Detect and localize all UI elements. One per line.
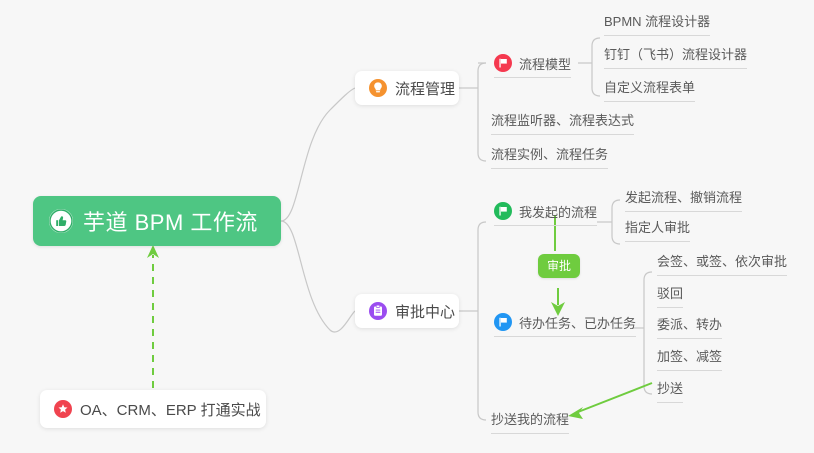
node-oa-crm-erp-label: OA、CRM、ERP 打通实战 (80, 399, 261, 420)
leaf-reject[interactable]: 驳回 (657, 284, 683, 308)
branch-label-process-mgmt: 流程管理 (395, 78, 455, 99)
leaf-bpmn-designer[interactable]: BPMN 流程设计器 (604, 12, 710, 36)
branch-label-approval-center: 审批中心 (395, 301, 455, 322)
flag-icon (494, 54, 512, 72)
leaf-process-listener[interactable]: 流程监听器、流程表达式 (491, 111, 634, 135)
node-process-model-label: 流程模型 (519, 54, 571, 73)
root-label: 芋道 BPM 工作流 (83, 205, 258, 237)
mindmap-canvas: 芋道 BPM 工作流 流程管理 流程模型 流程监听器、流程表达式 流程实例、流程… (0, 0, 814, 453)
node-my-initiated[interactable]: 我发起的流程 (494, 200, 597, 226)
leaf-dingtalk-designer[interactable]: 钉钉（飞书）流程设计器 (604, 45, 747, 69)
thumbs-up-icon (49, 209, 73, 233)
leaf-cc-to-me[interactable]: 抄送我的流程 (491, 410, 569, 434)
flag-icon (494, 313, 512, 331)
node-todo-done-tasks[interactable]: 待办任务、已办任务 (494, 311, 636, 337)
leaf-start-cancel-process[interactable]: 发起流程、撤销流程 (625, 188, 742, 212)
star-icon (54, 400, 72, 418)
branch-node-process-mgmt[interactable]: 流程管理 (355, 71, 459, 105)
node-oa-crm-erp[interactable]: OA、CRM、ERP 打通实战 (40, 390, 266, 428)
branch-node-approval-center[interactable]: 审批中心 (355, 294, 459, 328)
leaf-assignee-approval[interactable]: 指定人审批 (625, 218, 690, 242)
leaf-delegate-transfer[interactable]: 委派、转办 (657, 315, 722, 339)
node-process-model[interactable]: 流程模型 (494, 52, 571, 78)
lightbulb-icon (369, 79, 387, 97)
leaf-process-instance[interactable]: 流程实例、流程任务 (491, 145, 608, 169)
leaf-add-remove-sign[interactable]: 加签、减签 (657, 347, 722, 371)
callout-badge-approval: 审批 (538, 254, 580, 278)
flag-icon (494, 202, 512, 220)
leaf-countersign[interactable]: 会签、或签、依次审批 (657, 252, 787, 276)
node-my-initiated-label: 我发起的流程 (519, 202, 597, 221)
leaf-custom-form[interactable]: 自定义流程表单 (604, 78, 695, 102)
node-todo-done-tasks-label: 待办任务、已办任务 (519, 313, 636, 332)
clipboard-icon (369, 302, 387, 320)
leaf-cc[interactable]: 抄送 (657, 379, 683, 403)
root-node[interactable]: 芋道 BPM 工作流 (33, 196, 281, 246)
